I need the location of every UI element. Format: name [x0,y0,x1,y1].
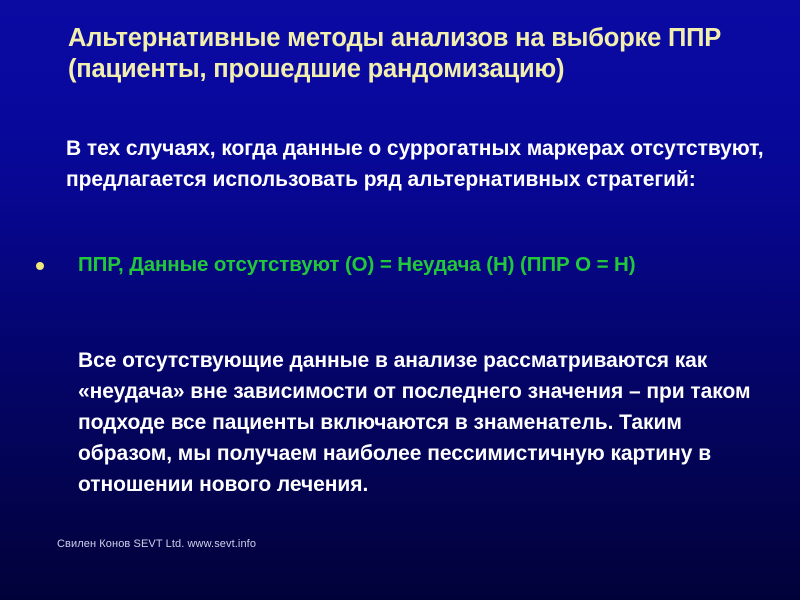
detail-paragraph: Все отсутствующие данные в анализе рассм… [78,345,768,500]
presentation-slide: Альтернативные методы анализов на выборк… [0,0,800,600]
bullet-dot-icon [36,262,44,270]
intro-paragraph: В тех случаях, когда данные о суррогатны… [66,133,772,195]
bullet-item-label: ППР, Данные отсутствуют (О) = Неудача (Н… [78,250,778,280]
page-title: Альтернативные методы анализов на выборк… [68,23,774,85]
footer-credit: Свилен Конов SEVT Ltd. www.sevt.info [57,538,256,550]
